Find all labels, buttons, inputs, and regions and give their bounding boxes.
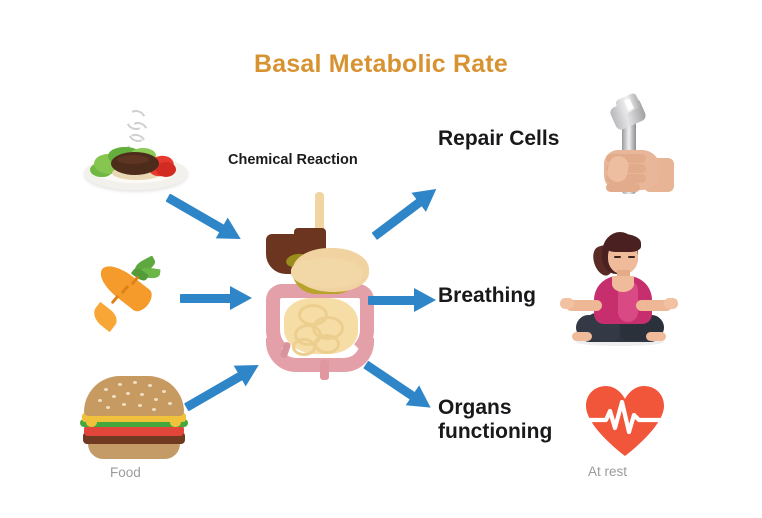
breathing-label: Breathing <box>438 284 536 308</box>
at-rest-caption: At rest <box>588 464 627 479</box>
hand-wrench-icon <box>586 96 674 196</box>
heart-ecg-svg <box>584 384 666 458</box>
repair-cells-label: Repair Cells <box>438 127 559 151</box>
plate-food-icon <box>82 108 190 194</box>
heart-ecg-icon <box>584 384 666 458</box>
page-title: Basal Metabolic Rate <box>0 50 762 79</box>
organs-functioning-label: Organs functioning <box>438 396 570 445</box>
chemical-reaction-label: Chemical Reaction <box>228 152 358 169</box>
meditating-woman-icon <box>558 228 680 348</box>
arrow-burger-to-digestion <box>180 352 270 418</box>
food-caption: Food <box>110 465 141 480</box>
carrot-icon <box>88 252 164 344</box>
arrow-digestion-to-breathing <box>368 288 448 312</box>
arrow-carrot-to-digestion <box>180 286 260 310</box>
hamburger-icon <box>78 368 190 454</box>
digestive-system-icon <box>258 192 388 380</box>
infographic-canvas: Basal Metabolic Rate <box>0 0 762 518</box>
arrow-digestion-to-organs <box>359 354 447 424</box>
arrow-food-to-digestion <box>162 187 252 253</box>
